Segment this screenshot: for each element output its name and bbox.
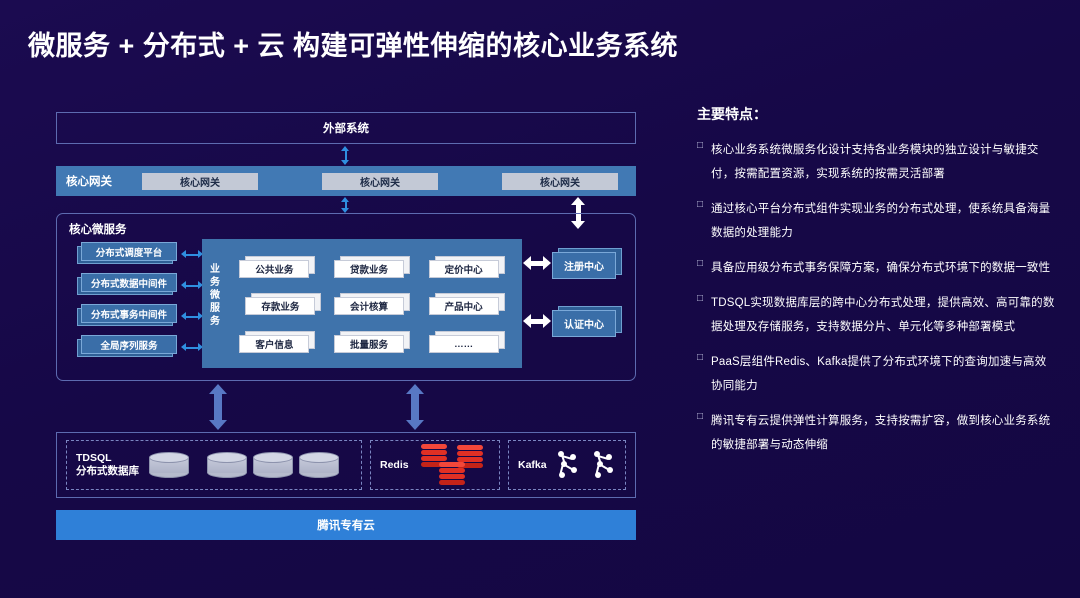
arrow-shaft [530, 319, 544, 324]
component-label: 全局序列服务 [81, 335, 177, 354]
arrow-core-to-data-right [406, 384, 424, 430]
business-microservice-vertical-label: 业务微服务 [208, 263, 222, 328]
arrow-data-middleware-to-business [181, 281, 203, 290]
core-gateway-title: 核心网关 [66, 173, 142, 189]
business-card-label: 存款业务 [245, 297, 315, 315]
arrow-shaft [530, 261, 544, 266]
tdsql-label: TDSQL 分布式数据库 [76, 452, 139, 478]
gateway-chip[interactable]: 核心网关 [322, 173, 438, 190]
component-transaction-middleware[interactable]: 分布式事务中间件 [77, 304, 177, 326]
arrow-shaft [185, 285, 199, 287]
business-card-batch-service[interactable]: 批量服务 [334, 331, 410, 353]
business-card-label: 客户信息 [239, 335, 309, 353]
feature-text: 核心业务系统微服务化设计支持各业务模块的独立设计与敏捷交付，按需配置资源，实现系… [711, 138, 1057, 186]
business-card-label: 公共业务 [239, 260, 309, 278]
data-layer-panel: TDSQL 分布式数据库 [56, 432, 636, 498]
component-label: 分布式数据中间件 [81, 273, 177, 292]
business-card-label: 产品中心 [429, 297, 499, 315]
feature-text: 腾讯专有云提供弹性计算服务，支持按需扩容，做到核心业务系统的敏捷部署与动态伸缩 [711, 409, 1057, 457]
slide-canvas: 微服务 + 分布式 + 云 构建可弹性伸缩的核心业务系统 外部系统 核心网关 核… [0, 0, 1080, 598]
arrow-core-to-data-left [209, 384, 227, 430]
feature-text: 通过核心平台分布式组件实现业务的分布式处理，使系统具备海量数据的处理能力 [711, 197, 1057, 245]
arrow-shaft [185, 316, 199, 318]
core-microservice-label: 核心微服务 [69, 221, 127, 237]
component-scheduling-platform[interactable]: 分布式调度平台 [77, 242, 177, 264]
arrow-gateway-to-core [341, 197, 350, 213]
component-global-sequence-service[interactable]: 全局序列服务 [77, 335, 177, 357]
square-bullet-icon: □ [697, 197, 711, 210]
core-gateway-chip-list: 核心网关 核心网关 核心网关 [142, 173, 636, 190]
feature-text: TDSQL实现数据库层的跨中心分布式处理，提供高效、高可靠的数据处理及存储服务，… [711, 291, 1057, 339]
business-microservice-block: 业务微服务 公共业务 贷款业务 定价中心 [202, 239, 522, 368]
kafka-group[interactable]: Kafka [508, 440, 626, 490]
redis-group[interactable]: Redis [370, 440, 500, 490]
square-bullet-icon: □ [697, 291, 711, 304]
external-system-box: 外部系统 [56, 112, 636, 144]
redis-icon-group [417, 443, 493, 487]
redis-cube-icon [439, 462, 465, 486]
gateway-chip[interactable]: 核心网关 [142, 173, 258, 190]
architecture-diagram: 外部系统 核心网关 核心网关 核心网关 核心网关 [56, 112, 636, 540]
arrowhead-down-icon [209, 420, 227, 430]
business-card-pricing-center[interactable]: 定价中心 [429, 256, 505, 278]
core-microservice-panel: 核心微服务 分布式调度平台 分布式数据中间件 分布式事务中间件 全局序列服务 [56, 213, 636, 381]
external-system-label: 外部系统 [323, 120, 369, 136]
core-right-component-list: 注册中心 认证中心 [552, 248, 628, 364]
tencent-cloud-bar: 腾讯专有云 [56, 510, 636, 540]
redis-label: Redis [380, 459, 409, 472]
business-card-label: 会计核算 [334, 297, 404, 315]
feature-item: □ 核心业务系统微服务化设计支持各业务模块的独立设计与敏捷交付，按需配置资源，实… [697, 138, 1057, 186]
arrow-shaft [185, 254, 199, 256]
arrowhead-right-icon [543, 314, 551, 328]
tdsql-group[interactable]: TDSQL 分布式数据库 [66, 440, 362, 490]
component-auth-center[interactable]: 认证中心 [552, 306, 624, 336]
business-card-more[interactable]: …… [429, 331, 505, 353]
component-data-middleware[interactable]: 分布式数据中间件 [77, 273, 177, 295]
business-card-loan[interactable]: 贷款业务 [334, 256, 410, 278]
database-cylinder-icon [253, 452, 293, 478]
square-bullet-icon: □ [697, 138, 711, 151]
business-card-label: 贷款业务 [334, 260, 404, 278]
arrow-scheduling-to-business [181, 250, 203, 259]
business-card-label: 定价中心 [429, 260, 499, 278]
feature-item: □ PaaS层组件Redis、Kafka提供了分布式环境下的查询加速与高效协同能… [697, 350, 1057, 398]
business-microservice-grid: 公共业务 贷款业务 定价中心 存款业务 [230, 248, 514, 361]
feature-item: □ 通过核心平台分布式组件实现业务的分布式处理，使系统具备海量数据的处理能力 [697, 197, 1057, 245]
business-card-customer-info[interactable]: 客户信息 [239, 331, 315, 353]
arrow-shaft [185, 347, 199, 349]
component-label: 分布式事务中间件 [81, 304, 177, 323]
kafka-label: Kafka [518, 459, 547, 472]
features-panel: 主要特点： □ 核心业务系统微服务化设计支持各业务模块的独立设计与敏捷交付，按需… [697, 104, 1057, 468]
feature-text: PaaS层组件Redis、Kafka提供了分布式环境下的查询加速与高效协同能力 [711, 350, 1057, 398]
business-card-product-center[interactable]: 产品中心 [429, 293, 505, 315]
tdsql-label-line1: TDSQL [76, 452, 112, 464]
kafka-icon-group [557, 450, 615, 480]
arrow-business-to-registry [523, 256, 551, 270]
arrow-transaction-middleware-to-business [181, 312, 203, 321]
arrow-external-to-gateway [341, 146, 350, 165]
square-bullet-icon: □ [697, 256, 711, 269]
database-cylinder-icon [149, 452, 189, 478]
core-gateway-bar: 核心网关 核心网关 核心网关 核心网关 [56, 166, 636, 196]
page-title: 微服务 + 分布式 + 云 构建可弹性伸缩的核心业务系统 [28, 24, 678, 63]
arrow-shaft [214, 393, 222, 421]
arrow-business-to-auth [523, 314, 551, 328]
feature-item: □ 腾讯专有云提供弹性计算服务，支持按需扩容，做到核心业务系统的敏捷部署与动态伸… [697, 409, 1057, 457]
arrowhead-down-icon [406, 420, 424, 430]
gateway-chip[interactable]: 核心网关 [502, 173, 618, 190]
business-card-label: …… [429, 335, 499, 353]
core-left-component-list: 分布式调度平台 分布式数据中间件 分布式事务中间件 全局序列服务 [77, 242, 181, 366]
database-cylinder-group [149, 452, 339, 478]
features-heading: 主要特点： [697, 104, 1057, 124]
square-bullet-icon: □ [697, 350, 711, 363]
feature-text: 具备应用级分布式事务保障方案，确保分布式环境下的数据一致性 [711, 256, 1050, 280]
database-cylinder-icon [207, 452, 247, 478]
component-registry-center[interactable]: 注册中心 [552, 248, 624, 278]
business-card-accounting[interactable]: 会计核算 [334, 293, 410, 315]
tencent-cloud-label: 腾讯专有云 [317, 517, 375, 533]
arrow-shaft [411, 393, 419, 421]
feature-item: □ TDSQL实现数据库层的跨中心分布式处理，提供高效、高可靠的数据处理及存储服… [697, 291, 1057, 339]
kafka-node-icon [593, 450, 615, 480]
component-label: 注册中心 [552, 252, 616, 279]
business-card-label: 批量服务 [334, 335, 404, 353]
component-label: 认证中心 [552, 310, 616, 337]
business-card-public[interactable]: 公共业务 [239, 256, 315, 278]
arrowhead-down-icon [341, 160, 349, 165]
square-bullet-icon: □ [697, 409, 711, 422]
component-label: 分布式调度平台 [81, 242, 177, 261]
kafka-node-icon [557, 450, 579, 480]
feature-item: □ 具备应用级分布式事务保障方案，确保分布式环境下的数据一致性 [697, 256, 1057, 280]
database-cylinder-icon [299, 452, 339, 478]
tdsql-label-line2: 分布式数据库 [76, 465, 139, 477]
arrowhead-right-icon [543, 256, 551, 270]
business-card-deposit[interactable]: 存款业务 [239, 293, 315, 315]
arrow-sequence-service-to-business [181, 343, 203, 352]
